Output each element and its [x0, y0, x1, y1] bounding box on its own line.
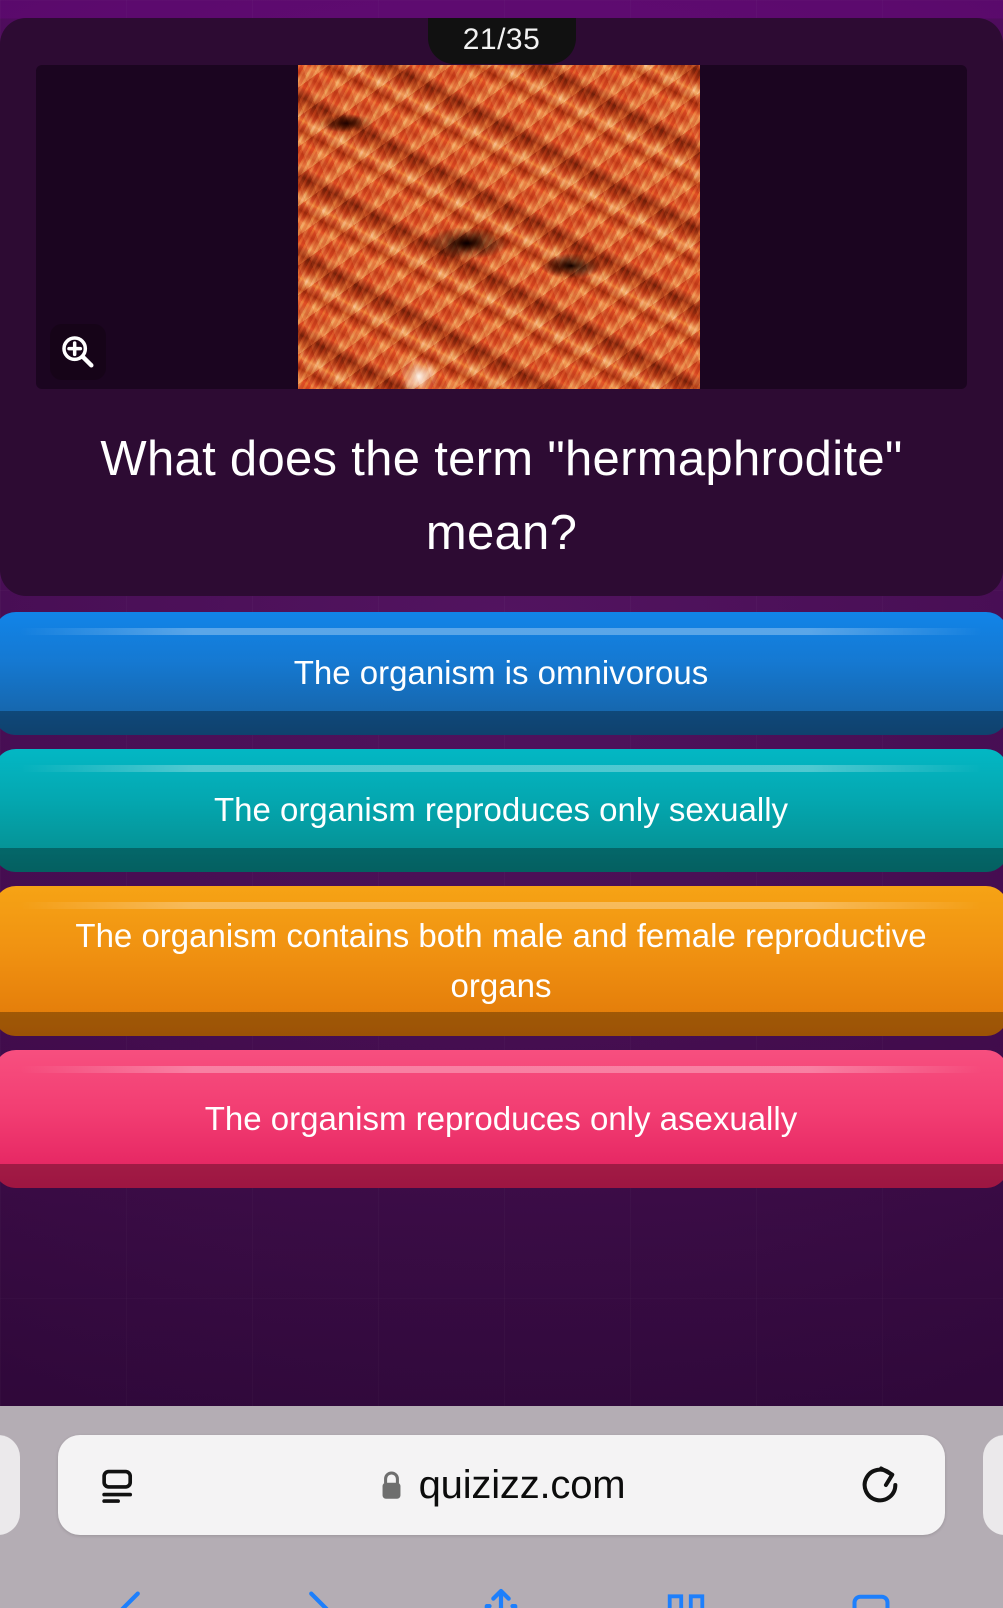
reload-icon	[857, 1462, 903, 1508]
question-counter: 21/35	[428, 18, 576, 64]
lock-icon	[378, 1469, 405, 1501]
tab-strip-right-peek[interactable]	[983, 1435, 1003, 1535]
question-text: What does the term "hermaphrodite" mean?	[50, 422, 953, 571]
answer-options-list: The organism is omnivorous The organism …	[0, 612, 1003, 1202]
answer-option-3[interactable]: The organism contains both male and fema…	[0, 886, 1003, 1036]
forward-button[interactable]	[294, 1586, 340, 1608]
magnifier-plus-icon	[58, 332, 98, 372]
bookmarks-button[interactable]	[663, 1586, 709, 1608]
browser-toolbar	[0, 1560, 1003, 1608]
tab-strip-left-peek[interactable]	[0, 1435, 20, 1535]
answer-option-2[interactable]: The organism reproduces only sexually	[0, 749, 1003, 872]
quizizz-game-screen: 21/35 What does the term "hermaphrodite"…	[0, 0, 1003, 1608]
tabs-button[interactable]	[848, 1586, 894, 1608]
url-text: quizizz.com	[419, 1463, 626, 1508]
answer-option-4-label: The organism reproduces only asexually	[205, 1094, 797, 1144]
question-media-area	[36, 65, 967, 389]
back-button[interactable]	[109, 1586, 155, 1608]
answer-option-2-label: The organism reproduces only sexually	[214, 785, 788, 835]
answer-option-1-label: The organism is omnivorous	[294, 648, 709, 698]
answer-option-1[interactable]: The organism is omnivorous	[0, 612, 1003, 735]
zoom-image-button[interactable]	[50, 324, 106, 380]
share-button[interactable]	[478, 1586, 524, 1608]
answer-option-3-label: The organism contains both male and fema…	[42, 911, 960, 1011]
url-display[interactable]: quizizz.com	[58, 1463, 945, 1508]
address-bar[interactable]: quizizz.com	[58, 1435, 945, 1535]
answer-option-4[interactable]: The organism reproduces only asexually	[0, 1050, 1003, 1188]
reload-button[interactable]	[857, 1462, 903, 1508]
question-card: 21/35 What does the term "hermaphrodite"…	[0, 18, 1003, 596]
browser-chrome: quizizz.com	[0, 1406, 1003, 1608]
question-image	[298, 65, 700, 389]
